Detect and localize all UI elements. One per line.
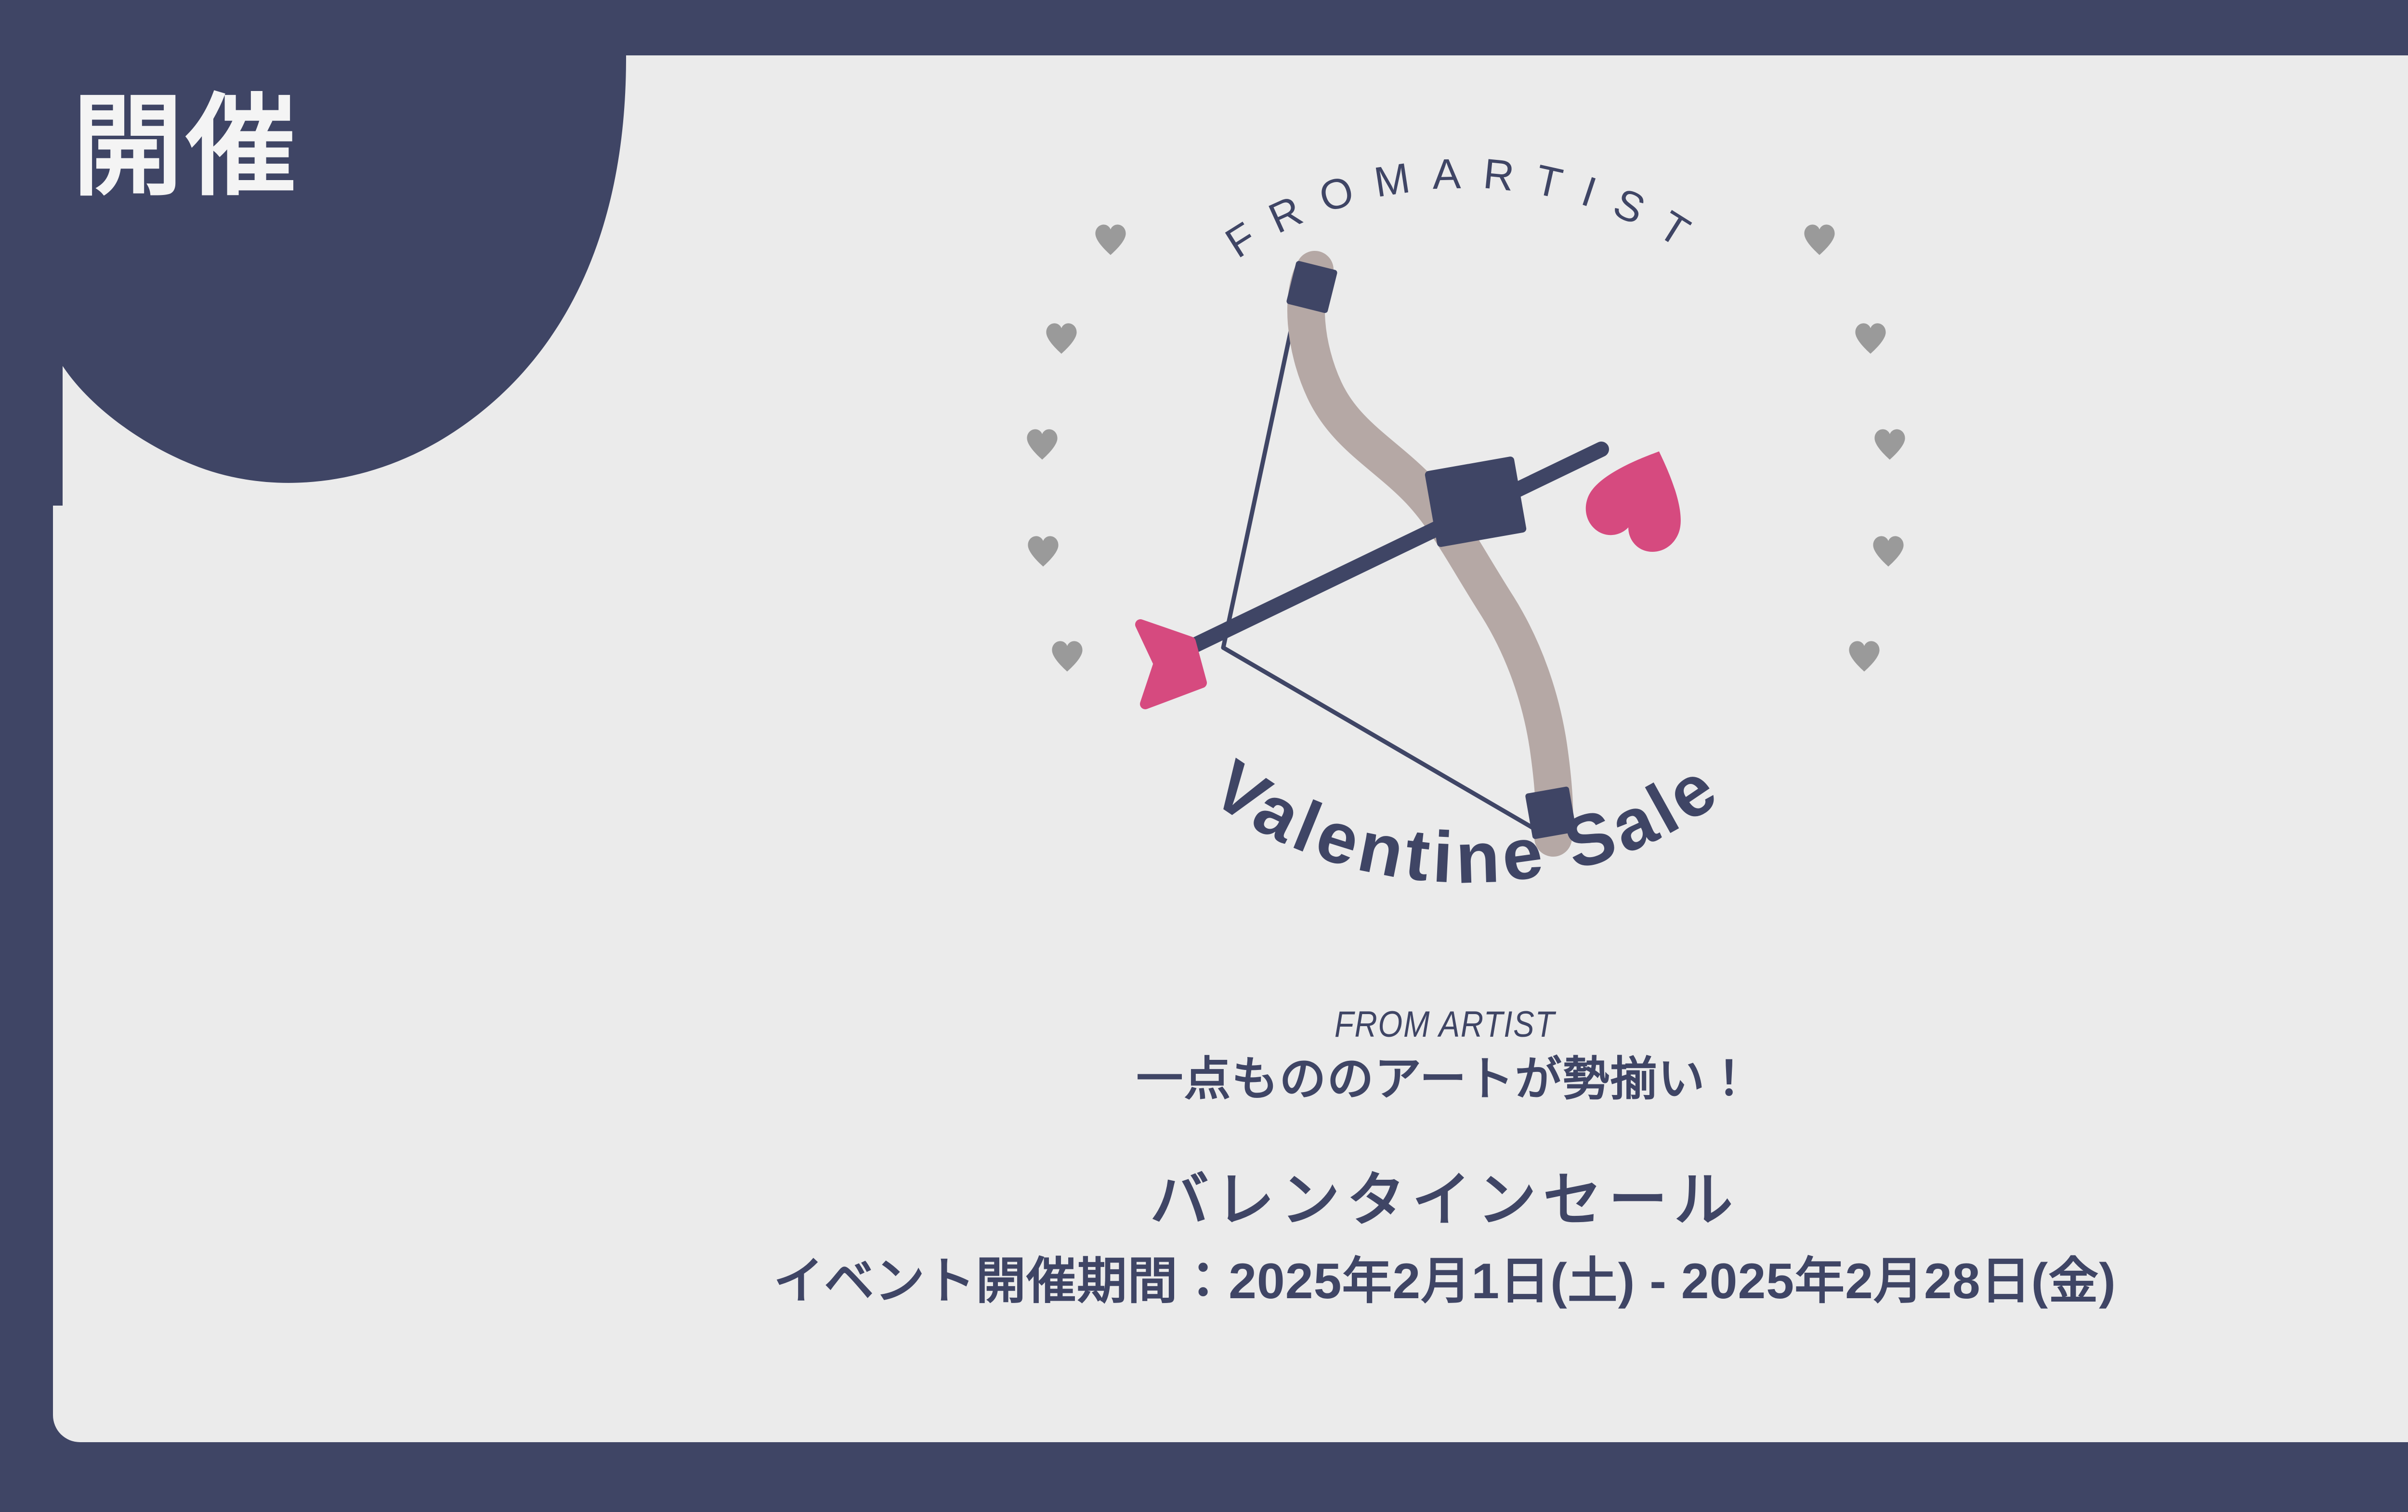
emblem-arc-bottom-text: Valentine Sale bbox=[1199, 744, 1734, 899]
arrow-fletching bbox=[1140, 625, 1202, 704]
copy-lede: 一点もののアートが勢揃い！ bbox=[0, 1052, 2408, 1107]
emblem: FROMARTIST bbox=[982, 120, 1950, 910]
copy-eyebrow: FROM ARTIST bbox=[202, 1004, 2408, 1045]
copy-period: イベント開催期間：2025年2月1日(土) - 2025年2月28日(金) bbox=[0, 1251, 2408, 1312]
copy-title: バレンタインセール bbox=[0, 1165, 2408, 1235]
bow-grip bbox=[1425, 456, 1527, 547]
decorative-hearts-right bbox=[1804, 224, 1905, 671]
bow-limb bbox=[1306, 270, 1555, 838]
decorative-hearts-left bbox=[1027, 224, 1125, 671]
emblem-arc-top-text: FROMARTIST bbox=[1217, 149, 1716, 267]
valentine-sale-banner: 開催 FROMARTIST bbox=[0, 0, 2408, 1512]
copy-block: FROM ARTIST 一点もののアートが勢揃い！ バレンタインセール イベント… bbox=[0, 1004, 2408, 1312]
